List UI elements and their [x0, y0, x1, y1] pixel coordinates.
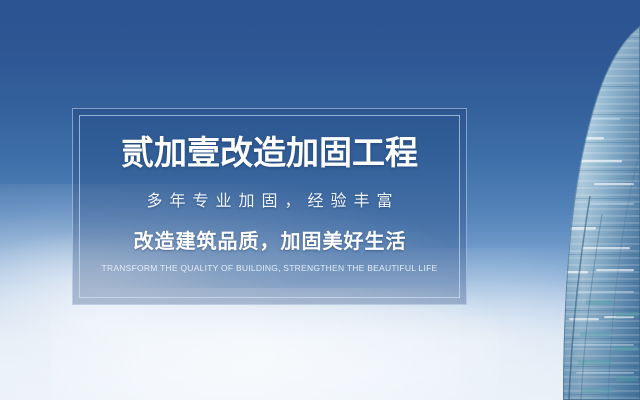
hero-banner: 贰加壹改造加固工程 多年专业加固，经验丰富 改造建筑品质，加固美好生活 TRAN…	[0, 0, 640, 400]
slogan-text: 改造建筑品质，加固美好生活	[133, 232, 407, 252]
headline-title: 贰加壹改造加固工程	[121, 136, 418, 169]
english-tagline: TRANSFORM THE QUALITY OF BUILDING, STREN…	[102, 264, 438, 273]
skyscraper-image	[520, 0, 640, 400]
text-panel: 贰加壹改造加固工程 多年专业加固，经验丰富 改造建筑品质，加固美好生活 TRAN…	[72, 108, 467, 305]
subline-text: 多年专业加固，经验丰富	[139, 194, 399, 210]
panel-content: 贰加壹改造加固工程 多年专业加固，经验丰富 改造建筑品质，加固美好生活 TRAN…	[73, 109, 466, 304]
skyscraper-icon	[520, 0, 640, 400]
